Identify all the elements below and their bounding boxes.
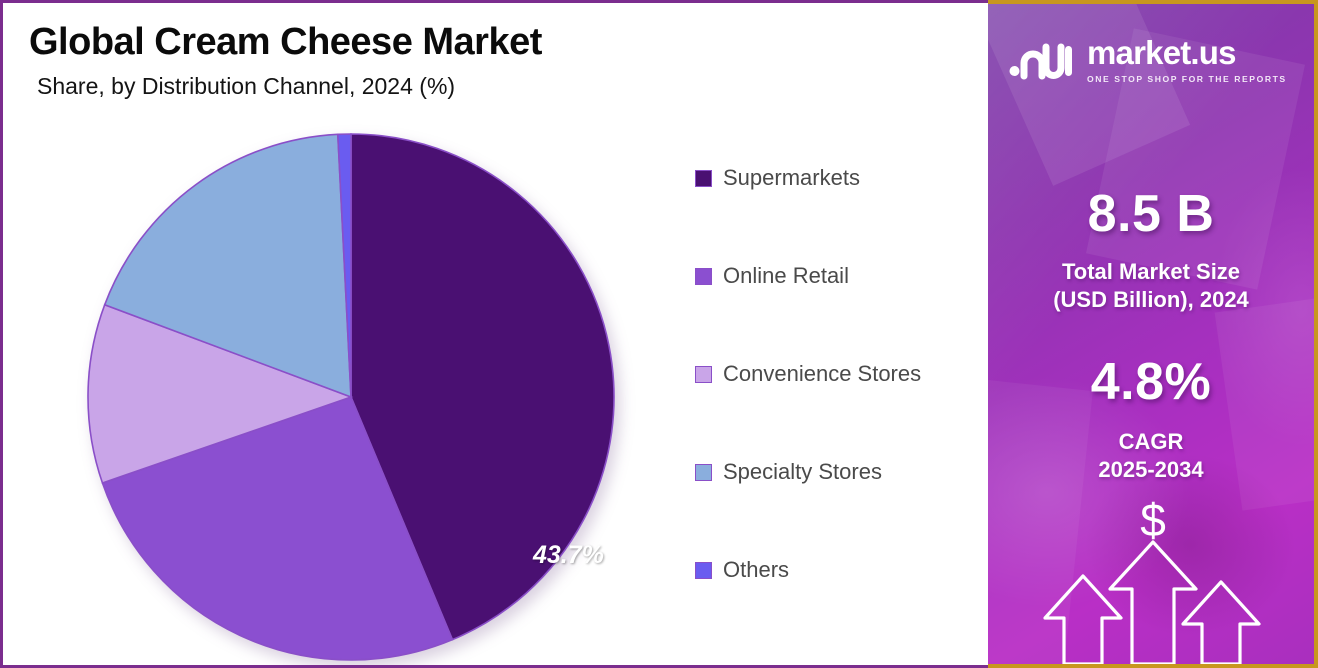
growth-arrows-icon: $ — [988, 494, 1318, 664]
cagr-label-line1: CAGR — [988, 428, 1314, 456]
brand-tagline: ONE STOP SHOP FOR THE REPORTS — [1087, 74, 1287, 84]
legend-label: Others — [723, 557, 789, 583]
background-texture-shape — [988, 0, 1190, 186]
chart-subtitle: Share, by Distribution Channel, 2024 (%) — [37, 73, 455, 100]
legend-item-online-retail[interactable]: Online Retail — [695, 261, 985, 291]
market-size-value: 8.5 B — [988, 184, 1314, 244]
legend-item-others[interactable]: Others — [695, 555, 985, 585]
legend-label: Supermarkets — [723, 165, 860, 191]
market-size-label-line2: (USD Billion), 2024 — [988, 286, 1314, 314]
chart-panel: Global Cream Cheese Market Share, by Dis… — [0, 0, 988, 668]
dollar-sign-icon: $ — [1140, 494, 1166, 546]
legend-item-specialty-stores[interactable]: Specialty Stores — [695, 457, 985, 487]
market-us-logo-icon — [1008, 37, 1074, 83]
chart-legend: Supermarkets Online Retail Convenience S… — [695, 163, 985, 585]
legend-swatch-icon — [695, 170, 712, 187]
legend-label: Convenience Stores — [723, 361, 921, 387]
legend-label: Specialty Stores — [723, 459, 882, 485]
market-size-label-line1: Total Market Size — [988, 258, 1314, 286]
legend-swatch-icon — [695, 562, 712, 579]
page-title: Global Cream Cheese Market — [29, 21, 542, 64]
stats-panel: market.us ONE STOP SHOP FOR THE REPORTS … — [988, 0, 1318, 668]
legend-swatch-icon — [695, 464, 712, 481]
cagr-label-line2: 2025-2034 — [988, 456, 1314, 484]
legend-swatch-icon — [695, 268, 712, 285]
pie-slices-svg — [85, 131, 617, 663]
legend-item-supermarkets[interactable]: Supermarkets — [695, 163, 985, 193]
pie-chart: 43.7% — [85, 131, 617, 663]
pie-data-label-supermarkets: 43.7% — [533, 541, 604, 570]
brand-logo[interactable]: market.us ONE STOP SHOP FOR THE REPORTS — [1008, 36, 1287, 84]
infographic-root: Global Cream Cheese Market Share, by Dis… — [0, 0, 1318, 668]
brand-text: market.us ONE STOP SHOP FOR THE REPORTS — [1087, 36, 1287, 84]
cagr-value: 4.8% — [988, 352, 1314, 412]
legend-swatch-icon — [695, 366, 712, 383]
brand-name: market.us — [1087, 36, 1287, 69]
cagr-label: CAGR 2025-2034 — [988, 428, 1314, 483]
legend-item-convenience-stores[interactable]: Convenience Stores — [695, 359, 985, 389]
legend-label: Online Retail — [723, 263, 849, 289]
market-size-label: Total Market Size (USD Billion), 2024 — [988, 258, 1314, 313]
